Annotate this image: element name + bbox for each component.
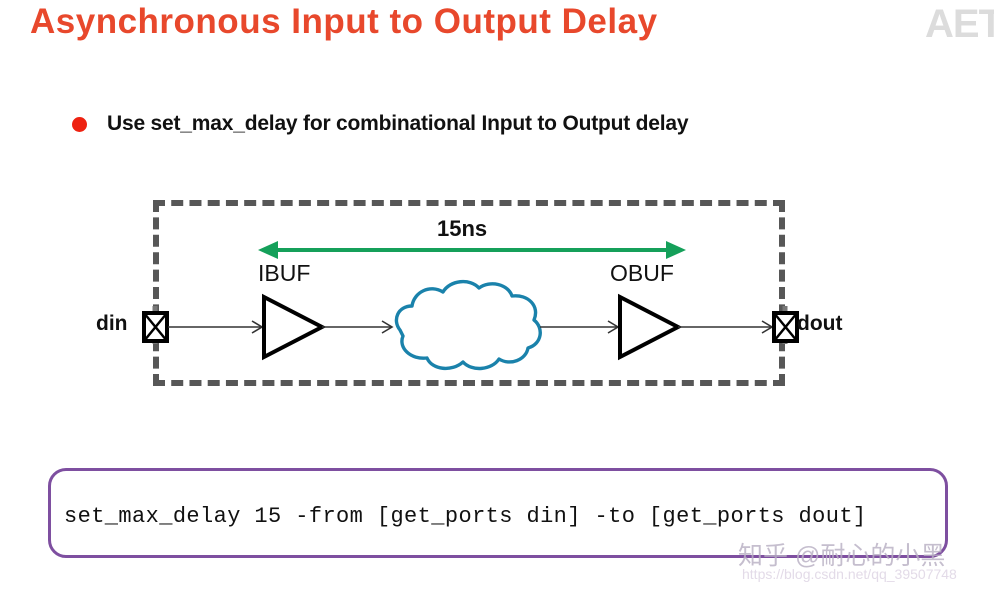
page-title: Asynchronous Input to Output Delay: [30, 2, 658, 42]
watermark-url: https://blog.csdn.net/qq_39507748: [742, 566, 957, 582]
wire-din-to-ibuf: [168, 321, 262, 333]
diagram-svg: [0, 180, 994, 420]
aet-logo: AET: [925, 2, 994, 47]
ibuf-label: IBUF: [258, 260, 310, 287]
triangle-buffer-icon-obuf: [620, 297, 678, 357]
circuit-diagram: [0, 180, 994, 420]
bullet-row: Use set_max_delay for combinational Inpu…: [72, 112, 688, 136]
din-port-label: din: [96, 312, 128, 336]
delay-span-arrow: [258, 241, 686, 259]
crossed-box-port-icon-din: [144, 306, 167, 344]
bullet-text: Use set_max_delay for combinational Inpu…: [107, 112, 688, 136]
wire-obuf-to-dout: [678, 321, 772, 333]
dout-port-label: dout: [797, 312, 842, 336]
triangle-buffer-icon-ibuf: [264, 297, 322, 357]
wire-ibuf-to-cloud: [322, 321, 392, 333]
obuf-label: OBUF: [610, 260, 674, 287]
sdc-command-text: set_max_delay 15 -from [get_ports din] -…: [64, 504, 867, 529]
red-bullet-icon: [72, 117, 87, 132]
cloud-icon: [396, 282, 540, 369]
crossed-box-port-icon-dout: [774, 306, 797, 344]
wire-cloud-to-obuf: [540, 321, 618, 333]
delay-value-label: 15ns: [437, 216, 487, 242]
